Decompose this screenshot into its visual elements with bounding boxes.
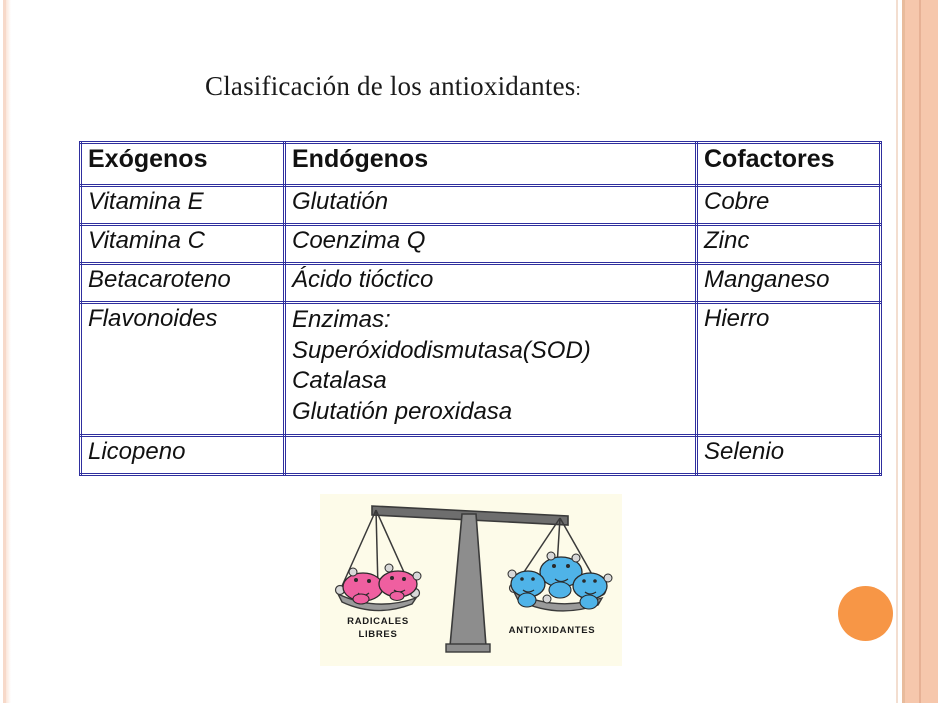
cell-cofactores: Selenio	[697, 435, 881, 474]
cell-exogenos: Licopeno	[81, 435, 285, 474]
antioxidant-classification-table: Exógenos Endógenos Cofactores Vitamina E…	[79, 141, 882, 476]
cell-cofactores: Zinc	[697, 225, 881, 264]
column-header-cofactores: Cofactores	[697, 143, 881, 186]
table-row: Betacaroteno Ácido tióctico Manganeso	[81, 264, 881, 303]
table-row: Vitamina C Coenzima Q Zinc	[81, 225, 881, 264]
label-antioxidantes: ANTIOXIDANTES	[509, 625, 596, 636]
enzyme-line: Enzimas:	[292, 305, 689, 336]
table-row: Licopeno Selenio	[81, 435, 881, 474]
slide-canvas: Clasificación de los antioxidantes: Exóg…	[0, 0, 938, 703]
cell-endogenos: Coenzima Q	[285, 225, 697, 264]
table-header: Exógenos Endógenos Cofactores	[81, 143, 881, 186]
balance-scale-graphic: RADICALES LIBRES ANTIOXIDANTES	[320, 494, 622, 666]
label-radicales-libres-line1: RADICALES	[347, 616, 409, 627]
cell-exogenos: Vitamina C	[81, 225, 285, 264]
scale-stand	[446, 514, 490, 652]
cell-cofactores: Manganeso	[697, 264, 881, 303]
page-title-colon: :	[575, 79, 580, 100]
enzyme-line: Superóxidodismutasa(SOD)	[292, 336, 689, 367]
page-title: Clasificación de los antioxidantes:	[205, 71, 581, 102]
radical-characters-pink	[343, 564, 421, 604]
cell-endogenos: Ácido tióctico	[285, 264, 697, 303]
cell-endogenos: Glutatión	[285, 186, 697, 225]
column-header-exogenos: Exógenos	[81, 143, 285, 186]
right-edge-line-inner	[919, 0, 921, 703]
cell-endogenos: Enzimas: Superóxidodismutasa(SOD) Catala…	[285, 303, 697, 436]
enzyme-line: Glutatión peroxidasa	[292, 397, 689, 428]
right-edge-decoration	[893, 0, 938, 703]
cell-exogenos: Betacaroteno	[81, 264, 285, 303]
orange-dot-decoration	[838, 586, 893, 641]
column-header-endogenos: Endógenos	[285, 143, 697, 186]
table-row: Flavonoides Enzimas: Superóxidodismutasa…	[81, 303, 881, 436]
cell-exogenos: Flavonoides	[81, 303, 285, 436]
right-edge-band-wide	[905, 0, 938, 703]
cell-endogenos-empty	[285, 435, 697, 474]
right-edge-line-thin	[896, 0, 898, 703]
cell-exogenos: Vitamina E	[81, 186, 285, 225]
enzyme-line: Catalasa	[292, 366, 689, 397]
table-row: Vitamina E Glutatión Cobre	[81, 186, 881, 225]
cell-cofactores: Cobre	[697, 186, 881, 225]
left-edge-band-fade	[6, 0, 11, 703]
page-title-text: Clasificación de los antioxidantes	[205, 71, 575, 101]
left-edge-decoration	[0, 0, 14, 703]
antioxidant-characters-blue	[508, 552, 612, 609]
cell-cofactores: Hierro	[697, 303, 881, 436]
table-body: Vitamina E Glutatión Cobre Vitamina C Co…	[81, 186, 881, 475]
balance-scale-illustration: RADICALES LIBRES ANTIOXIDANTES	[320, 494, 622, 666]
table-header-row: Exógenos Endógenos Cofactores	[81, 143, 881, 186]
label-radicales-libres-line2: LIBRES	[358, 629, 397, 640]
